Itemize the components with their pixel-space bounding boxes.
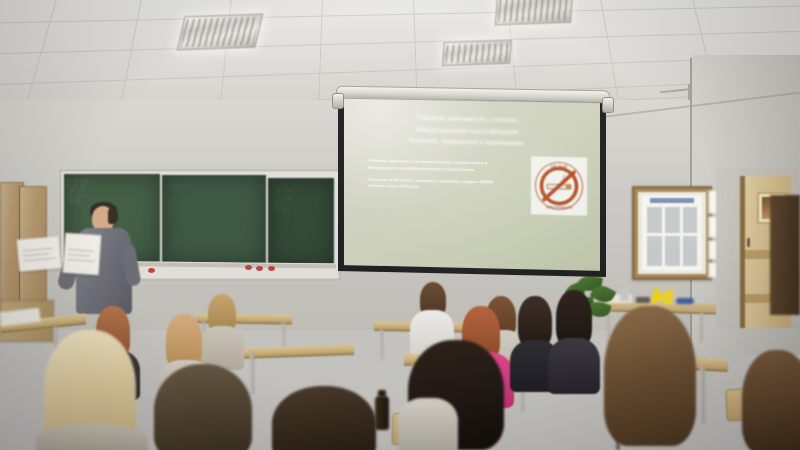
slide-bullet-list: – Табачная зависимость вызывает больше с… [362,158,495,197]
student-hair [742,350,800,450]
logo-bottom-text: ЗАБОЛЕВАНИЯ [546,206,573,211]
bottle-cap [378,390,386,397]
chalk-notes-right: 1. 2. 3. abc def —— —— x y z m q w e 12 … [274,184,295,213]
corridor-dark-shelf [770,195,800,315]
chalk-notes-left: x + y = 12 a · b n° 2x — 5 S = π r² 4 / … [67,178,89,204]
poster-header-bar [650,198,693,203]
bullet-dash-icon: – [362,176,365,189]
water-bottle [375,396,389,430]
classroom-photo: x + y = 12 a · b n° 2x — 5 S = π r² 4 / … [0,0,800,450]
desk-middle-left[interactable] [244,344,354,359]
chalk-notes-center: — 1 — A B C [170,180,185,189]
screen-roller-cap-right [602,97,614,113]
student-hair [604,306,696,446]
screen-roller-cap-left [332,93,344,109]
student-hair [272,386,376,450]
magnet-red-3 [268,266,275,271]
student-torso [398,398,458,450]
magnet-red-4 [148,268,155,273]
yellow-card [663,289,674,304]
student-hair [154,364,252,450]
projection-screen[interactable]: Табачная зависимость, согласно Междунаро… [338,93,606,277]
door-handle[interactable] [747,238,750,247]
schedule-poster [642,195,702,271]
back-counter-leg-right [700,312,703,342]
no-smoking-icon: НЕ ПАЙ ЗАБОЛЕВАНИЯ [533,159,585,214]
desk-clutter-blue [676,298,694,304]
slide-title: Табачная зависимость, согласно Междунаро… [367,111,567,149]
notice-board[interactable] [632,186,712,280]
student-torso [548,338,600,394]
logo-top-text: НЕ ПАЙ [551,164,568,169]
desk-leg [380,329,383,359]
magnet-red-2 [256,266,263,271]
desk-leg [282,322,285,348]
slide-bullet-item: – Табачная зависимость вызывает больше с… [362,158,495,174]
lecturer-paper-left [17,236,62,272]
notice-board-backing [638,192,706,274]
no-smoking-logo-box: НЕ ПАЙ ЗАБОЛЕВАНИЯ [531,157,587,216]
slide-surface: Табачная зависимость, согласно Междунаро… [344,97,600,271]
lecturer-paper-right [63,233,102,275]
desk-leg [250,352,254,394]
ceiling-light-2 [495,0,573,25]
desk-clutter-dark [636,297,650,303]
slide-bullet-item: – Ежегодно от болезней, связанных с куре… [362,176,495,192]
ceiling-light-3 [442,40,512,66]
slide-bullet-text: Ежегодно от болезней, связанных с курени… [368,176,495,192]
bullet-dash-icon: – [362,158,365,171]
magnet-red-1 [245,265,252,270]
student-torso [36,424,148,450]
desk-leg [700,366,705,424]
lecturer-hair-side [108,208,118,224]
ceiling-light-1 [177,14,263,51]
slide-bullet-text: Табачная зависимость вызывает больше слу… [368,158,495,174]
